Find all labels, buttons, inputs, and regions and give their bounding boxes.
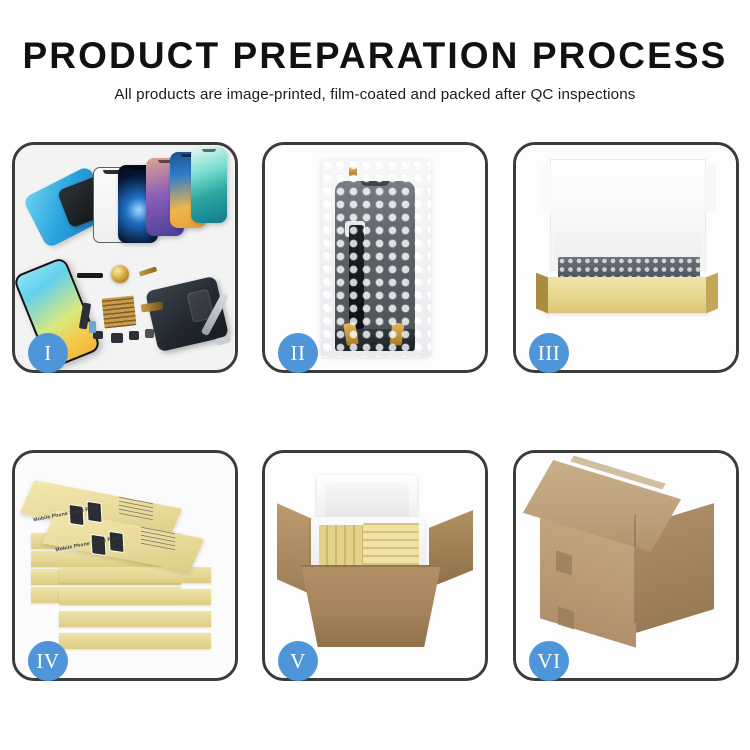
carton-edge-line [634,515,636,623]
spare-part-icon [129,331,139,340]
yellow-box-front-icon [544,277,710,313]
bubble-wrap-bag-icon [321,159,431,357]
step-badge-2: II [278,333,318,373]
step-badge-5: V [278,641,318,681]
step-badge-1: I [28,333,68,373]
speaker-module-icon [111,265,129,283]
spare-part-icon [77,273,103,278]
notch-icon [131,167,145,170]
carton-hand-hole-icon [558,607,574,630]
step-badge-6: VI [529,641,569,681]
spare-part-icon [89,321,96,333]
page-title: PRODUCT PREPARATION PROCESS [0,36,750,76]
stacked-box-icon [59,611,211,627]
spare-part-icon [111,333,123,343]
notch-icon [202,149,216,152]
phone-screen-icon-4 [191,147,227,223]
header: PRODUCT PREPARATION PROCESS All products… [0,36,750,103]
stacked-box-icon [59,589,211,605]
connector-chip-icon [102,295,137,328]
flex-cable-icon [349,225,364,329]
stacked-box-icon [59,633,211,649]
gold-contact-icon [349,167,357,176]
page-subtitle: All products are image-printed, film-coa… [0,86,750,103]
carton-seam-line [301,565,441,567]
step-badge-3: III [529,333,569,373]
carton-body-icon [301,565,441,647]
box-inner-liner-icon [554,189,702,259]
retail-box-stack-icon: Mobile Phone Spare Parts Mobile Phone Sp… [23,471,233,667]
step-badge-4: IV [28,641,68,681]
spare-part-icon [139,266,158,276]
process-steps-grid: Mobile Phone Spare Parts Mobile Phone Sp… [12,142,739,677]
product-preparation-process-page: PRODUCT PREPARATION PROCESS All products… [0,0,750,750]
spare-part-icon [145,329,154,338]
yellow-boxes-group-icon [363,523,419,571]
